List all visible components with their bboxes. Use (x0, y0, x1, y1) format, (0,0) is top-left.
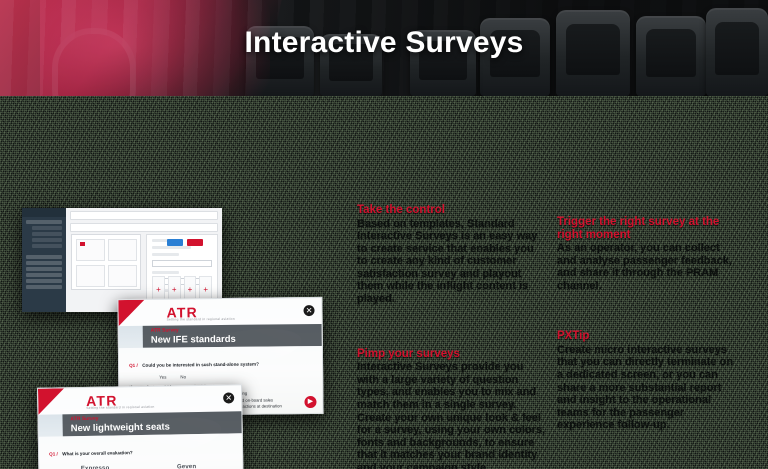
next-button[interactable]: ▶ (304, 396, 316, 408)
sidebar-item-logout[interactable] (26, 285, 62, 289)
rating-group-label: Geven (158, 464, 215, 469)
answer-no[interactable]: No (180, 374, 186, 379)
text-block-pimp-surveys: Pimp your surveys Interactive Surveys pr… (357, 348, 547, 469)
question-text: Could you be interested in such stand-al… (142, 362, 259, 368)
content-area: ATR Setting the standard in regional avi… (0, 96, 768, 469)
section-body: Based on templates, Standard Interactive… (357, 218, 547, 306)
brand-corner-graphic (38, 388, 64, 414)
question-line: Q1 / What is your overall evaluation? (49, 439, 232, 460)
survey-title: New IFE standards (151, 333, 314, 347)
template-thumbnail[interactable] (108, 239, 137, 261)
cms-sidebar-header (22, 208, 66, 217)
question-number: Q1 / (49, 451, 58, 456)
sidebar-item-parameters[interactable] (26, 279, 62, 283)
brand-corner-graphic (118, 300, 144, 326)
question-type-select[interactable] (152, 260, 212, 267)
survey-title-bar: ATR Survey New IFE standards (143, 324, 322, 348)
survey-body: Q1 / What is your overall evaluation? Ex… (39, 433, 243, 469)
sidebar-item-responses[interactable] (32, 238, 62, 242)
atr-logo-tagline: Setting the standard in regional aviatio… (167, 317, 235, 322)
template-thumbnail[interactable] (108, 265, 137, 287)
cms-screenshot-panel[interactable] (22, 208, 222, 312)
section-body: Interactive Surveys provide you with a l… (357, 361, 547, 469)
yes-no-answers[interactable]: Yes No (159, 373, 312, 380)
text-block-pxtip: PXTip Create micro interactive surveys t… (557, 330, 737, 432)
sidebar-item-settings[interactable] (32, 244, 62, 248)
survey-header: ATR Setting the standard in regional avi… (38, 385, 241, 415)
template-thumbnail[interactable] (76, 265, 105, 287)
survey-title-bar: ATR Survey New lightweight seats (62, 411, 241, 436)
cms-toolbar-top[interactable] (70, 211, 218, 220)
text-column-middle: Take the control Based on templates, Sta… (357, 204, 547, 469)
page-title: Interactive Surveys (0, 26, 768, 60)
answer-yes[interactable]: Yes (159, 375, 166, 380)
sidebar-item-all-surveys[interactable] (26, 220, 62, 224)
cms-main-area (66, 208, 222, 312)
cms-template-gallery[interactable] (71, 234, 141, 290)
section-body: Create micro interactive surveys that yo… (557, 344, 737, 432)
rating-group[interactable]: Geven seat (158, 464, 215, 469)
section-heading: Pimp your surveys (357, 348, 547, 361)
section-body: As an operator, you can collect and anal… (557, 242, 737, 292)
rating-group-label: Expresso (67, 465, 124, 469)
survey-header: ATR Setting the standard in regional avi… (118, 298, 321, 326)
cms-sidebar[interactable] (22, 208, 66, 312)
sidebar-item-content-manager[interactable] (26, 255, 62, 259)
hero-banner: Interactive Surveys (0, 0, 768, 96)
rating-groups[interactable]: Expresso seat Geven seat (49, 463, 232, 469)
save-button[interactable] (167, 239, 183, 246)
section-heading: Trigger the right survey at the right mo… (557, 216, 737, 241)
editor-label-title (152, 271, 179, 274)
editor-subline (152, 246, 191, 249)
text-block-take-control: Take the control Based on templates, Sta… (357, 204, 547, 306)
atr-logo-tagline: Setting the standard in regional aviatio… (86, 405, 154, 410)
question-text: What is your overall evaluation? (62, 450, 133, 456)
close-icon[interactable]: ✕ (223, 392, 234, 403)
text-column-right: Trigger the right survey at the right mo… (557, 216, 737, 441)
sidebar-item-content[interactable] (32, 226, 62, 230)
rating-group[interactable]: Expresso seat (67, 465, 124, 469)
template-thumbnail[interactable] (76, 239, 105, 261)
question-line: Q1 / Could you be interested in such sta… (129, 352, 312, 372)
cms-toolbar-second[interactable] (70, 223, 218, 232)
publish-button[interactable] (187, 239, 203, 246)
sidebar-item-dashboard[interactable] (26, 273, 62, 277)
survey-panel-seats[interactable]: ATR Setting the standard in regional avi… (37, 384, 244, 469)
text-block-trigger-survey: Trigger the right survey at the right mo… (557, 216, 737, 292)
sidebar-item-templates[interactable] (32, 232, 62, 236)
sidebar-item-digital-advertising[interactable] (26, 267, 62, 271)
question-number: Q1 / (129, 363, 138, 368)
close-icon[interactable]: ✕ (303, 305, 314, 316)
editor-label-question-type (152, 253, 179, 256)
section-heading: PXTip (557, 330, 737, 343)
sidebar-item-hardware[interactable] (26, 261, 62, 265)
section-heading: Take the control (357, 204, 547, 217)
